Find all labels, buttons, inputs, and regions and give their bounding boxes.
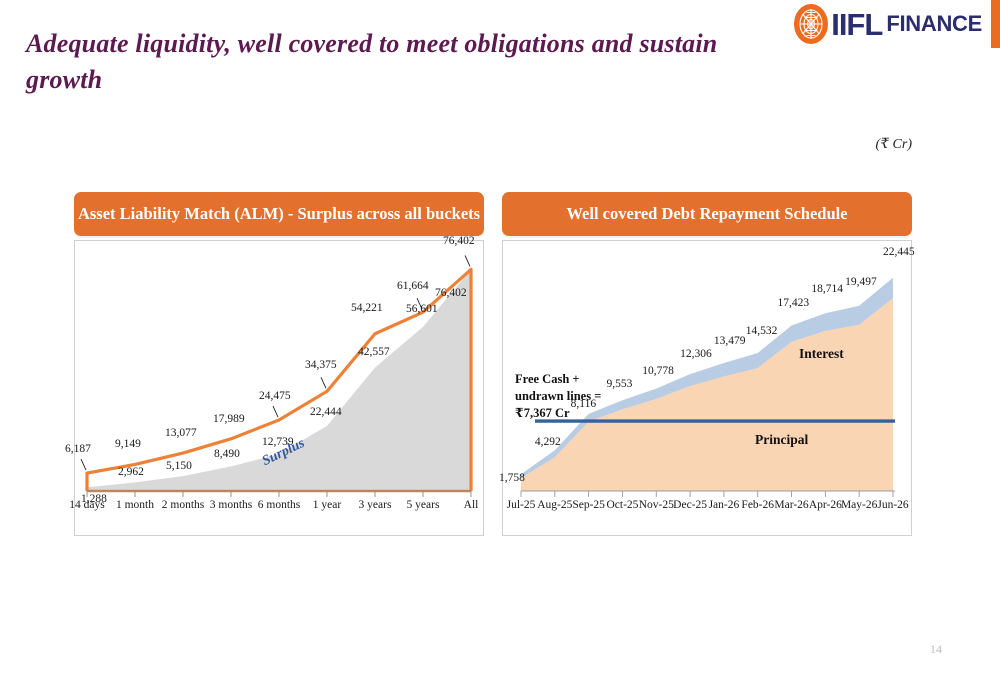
alm-inflow-label: 34,375 [305,359,337,371]
logo-text-finance: FINANCE [886,13,982,36]
alm-outflow-label: 42,557 [358,346,390,358]
principal-series-label: Principal [755,432,808,448]
panel-alm: Asset Liability Match (ALM) - Surplus ac… [74,192,484,536]
alm-outflow-label: 5,150 [166,460,192,472]
debt-total-label: 12,306 [680,348,712,360]
brand-logo: IIFL FINANCE [794,0,1000,48]
alm-inflow-label: 6,187 [65,443,91,455]
debt-total-label: 14,532 [746,325,778,337]
debt-total-label: 9,553 [606,378,632,390]
alm-inflow-label: 13,077 [165,427,197,439]
alm-outflow-label: 56,601 [406,303,438,315]
free-cash-callout: Free Cash + undrawn lines = ₹7,367 Cr [515,371,601,422]
debt-total-label: 4,292 [535,436,561,448]
page-title: Adequate liquidity, well covered to meet… [26,26,786,98]
panel-alm-heading: Asset Liability Match (ALM) - Surplus ac… [74,192,484,236]
panel-debt: Well covered Debt Repayment Schedule 1,7… [502,192,912,536]
free-cash-line-2: undrawn lines = [515,388,601,405]
panel-debt-heading: Well covered Debt Repayment Schedule [502,192,912,236]
free-cash-line-3: ₹7,367 Cr [515,405,601,422]
debt-total-label: 22,445 [883,246,915,258]
alm-inflow-label: 61,664 [397,280,429,292]
unit-note: (₹ Cr) [875,136,912,153]
debt-total-label: 18,714 [811,283,843,295]
alm-inflow-label: 17,989 [213,413,245,425]
panel-debt-body: 1,7584,2928,1169,55310,77812,30613,47914… [502,240,912,536]
free-cash-line-1: Free Cash + [515,371,601,388]
debt-total-label: 1,758 [499,472,525,484]
logo-text-iifl: IIFL [831,9,882,40]
iifl-mandala-icon [794,4,828,44]
alm-x-tick: All [441,499,501,511]
panel-alm-body: 6,1879,14913,07717,98924,47534,37554,221… [74,240,484,536]
page-number: 14 [930,642,942,657]
debt-total-label: 10,778 [642,365,674,377]
alm-inflow-label: 24,475 [259,390,291,402]
alm-outflow-label: 22,444 [310,406,342,418]
alm-inflow-label: 9,149 [115,438,141,450]
alm-outflow-label: 2,962 [118,466,144,478]
logo-accent-bar [991,0,1000,48]
alm-inflow-label: 54,221 [351,302,383,314]
debt-total-label: 13,479 [714,335,746,347]
debt-total-label: 19,497 [845,276,877,288]
debt-total-label: 17,423 [778,297,810,309]
alm-inflow-label: 76,402 [443,235,475,247]
alm-outflow-label: 76,402 [435,287,467,299]
interest-series-label: Interest [799,346,844,362]
alm-outflow-label: 8,490 [214,448,240,460]
debt-x-tick: Jun-26 [871,499,915,511]
